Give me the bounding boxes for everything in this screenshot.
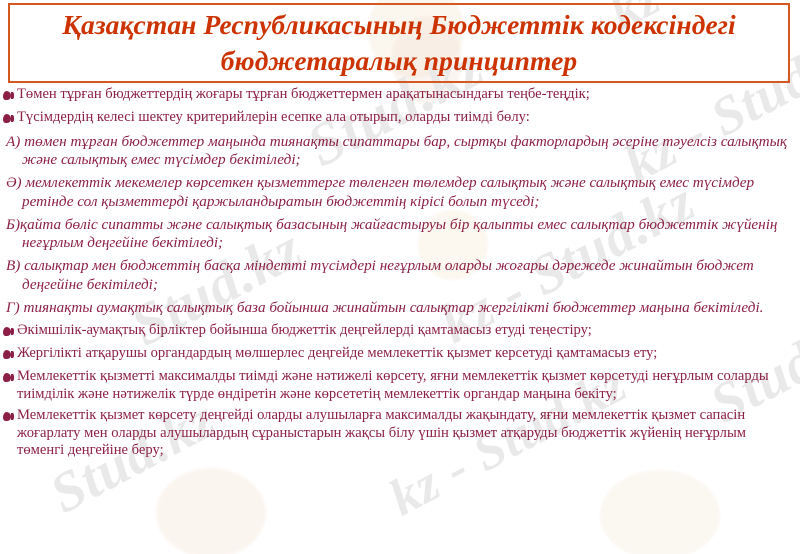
list-item-label: Жергілікті атқарушы органдардың мөлшерле… — [17, 345, 794, 363]
list-item: Төмен тұрған бюджеттердің жоғары тұрған … — [0, 86, 800, 105]
list-item-label: Төмен тұрған бюджеттердің жоғары тұрған … — [17, 86, 794, 104]
title-box: Қазақстан Республикасының Бюджеттік коде… — [8, 3, 790, 83]
pennant-bullet-icon — [2, 324, 17, 341]
pennant-bullet-icon — [2, 88, 17, 105]
sub-item: В) салықтар мен бюджеттің басқа міндетті… — [0, 257, 800, 293]
sub-item: А) төмен тұрған бюджеттер маңында тиянақ… — [0, 133, 800, 169]
sub-item-label: А) — [6, 133, 20, 150]
sub-item-label: Ә) — [6, 174, 22, 191]
sub-item-text: Б)қайта бөліс сипатты және салықтық база… — [6, 216, 792, 252]
list-item: Түсімдердің келесі шектеу критерийлерін … — [0, 109, 800, 128]
sub-item-body: тиянақты аумақтық салықтық база бойынша … — [24, 299, 764, 316]
sub-item: Г) тиянақты аумақтық салықтық база бойын… — [0, 299, 800, 317]
sub-item-body: төмен тұрған бюджеттер маңында тиянақты … — [22, 133, 787, 168]
list-item-label: Түсімдердің келесі шектеу критерийлерін … — [17, 109, 794, 127]
list-item-label: Әкімшілік-аумақтық бірліктер бойынша бюд… — [17, 322, 794, 340]
sub-item-text: Ә) мемлекеттік мекемелер көрсеткен қызме… — [6, 174, 792, 210]
sub-item-text: А) төмен тұрған бюджеттер маңында тиянақ… — [6, 133, 792, 169]
page-title: Қазақстан Республикасының Бюджеттік коде… — [10, 7, 788, 80]
list-item: Әкімшілік-аумақтық бірліктер бойынша бюд… — [0, 322, 800, 341]
sub-item-body: қайта бөліс сипатты және салықтық базасы… — [20, 216, 777, 251]
list-item: Жергілікті атқарушы органдардың мөлшерле… — [0, 345, 800, 364]
list-item: Мемлекеттік қызметті максималды тиімді ж… — [0, 368, 800, 403]
pennant-bullet-icon — [2, 111, 17, 128]
list-item-label: Мемлекеттік қызмет көрсету деңгейді олар… — [17, 407, 794, 460]
sub-item-text: В) салықтар мен бюджеттің басқа міндетті… — [6, 257, 792, 293]
sub-item-text: Г) тиянақты аумақтық салықтық база бойын… — [6, 299, 792, 317]
bullet-list: Төмен тұрған бюджеттердің жоғары тұрған … — [0, 86, 800, 460]
sub-item-label: Б) — [6, 216, 20, 233]
sub-item-label: Г) — [6, 299, 20, 316]
list-item-label: Мемлекеттік қызметті максималды тиімді ж… — [17, 368, 794, 403]
sub-item: Б)қайта бөліс сипатты және салықтық база… — [0, 216, 800, 252]
slide-root: Қазақстан Республикасының Бюджеттік коде… — [0, 0, 800, 554]
sub-item-label: В) — [6, 257, 20, 274]
pennant-bullet-icon — [2, 347, 17, 364]
pennant-bullet-icon — [2, 409, 17, 426]
sub-item-body: салықтар мен бюджеттің басқа міндетті тү… — [22, 257, 754, 292]
list-item: Мемлекеттік қызмет көрсету деңгейді олар… — [0, 407, 800, 460]
pennant-bullet-icon — [2, 370, 17, 387]
sub-item: Ә) мемлекеттік мекемелер көрсеткен қызме… — [0, 174, 800, 210]
sub-item-body: мемлекеттік мекемелер көрсеткен қызметте… — [22, 174, 754, 209]
